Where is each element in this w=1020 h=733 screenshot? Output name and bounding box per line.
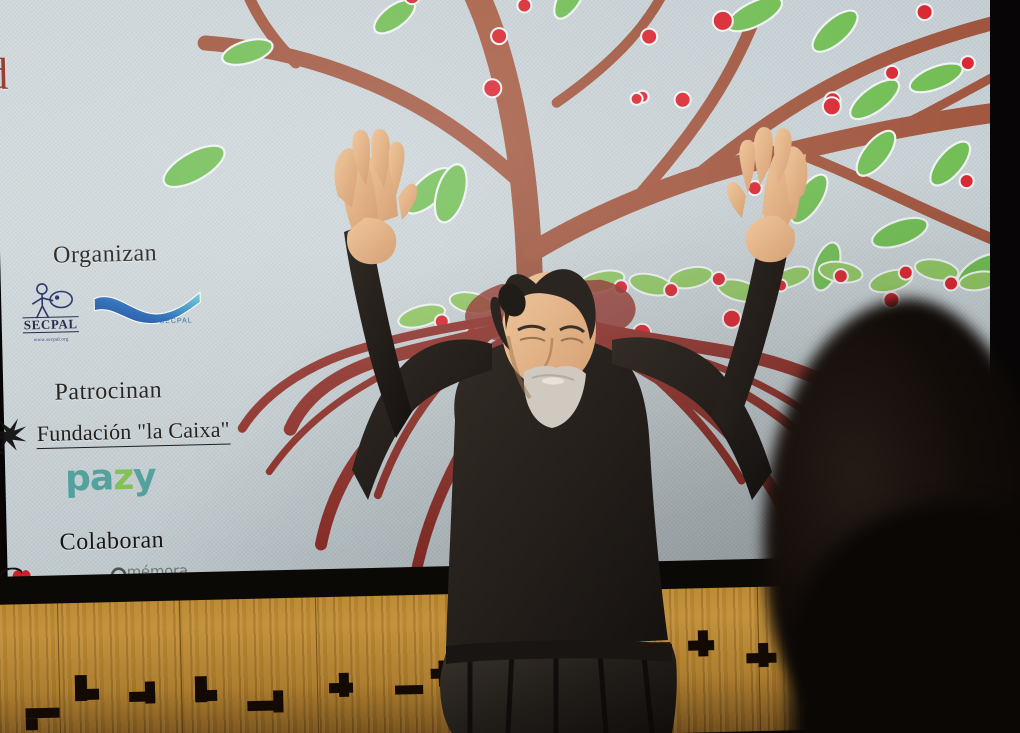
- pazy-text-a: pa: [65, 457, 114, 499]
- pazy-text-b: z: [113, 457, 134, 498]
- secpal-wave-logo: SECPAL: [92, 284, 203, 333]
- la-caixa-wordmark: Fundación "la Caixa": [37, 417, 231, 450]
- credits-heading-colaboran: Colaboran: [0, 524, 277, 559]
- slide-headline-line2: ilidad: [0, 48, 9, 102]
- secpal-wave-label: SECPAL: [160, 317, 193, 325]
- pazy-text-c: y: [133, 456, 156, 498]
- secpal-mascot-logo: Sociedad Española de Cuidados Paliativos…: [10, 279, 79, 343]
- secpal-wordmark: SECPAL: [23, 316, 79, 333]
- la-caixa-star-icon: [0, 417, 29, 454]
- credits-heading-patrocinan: Patrocinan: [0, 375, 274, 410]
- credits-heading-organizan: Organizan: [0, 238, 270, 273]
- la-caixa-logo: Fundación "la Caixa": [0, 412, 275, 456]
- organizan-logos: Sociedad Española de Cuidados Paliativos…: [0, 275, 272, 345]
- photo-scene: da: ilidad Organizan Sociedad Española d…: [0, 0, 1020, 733]
- slide-credits: Organizan Sociedad Española de Cuidados …: [0, 238, 279, 620]
